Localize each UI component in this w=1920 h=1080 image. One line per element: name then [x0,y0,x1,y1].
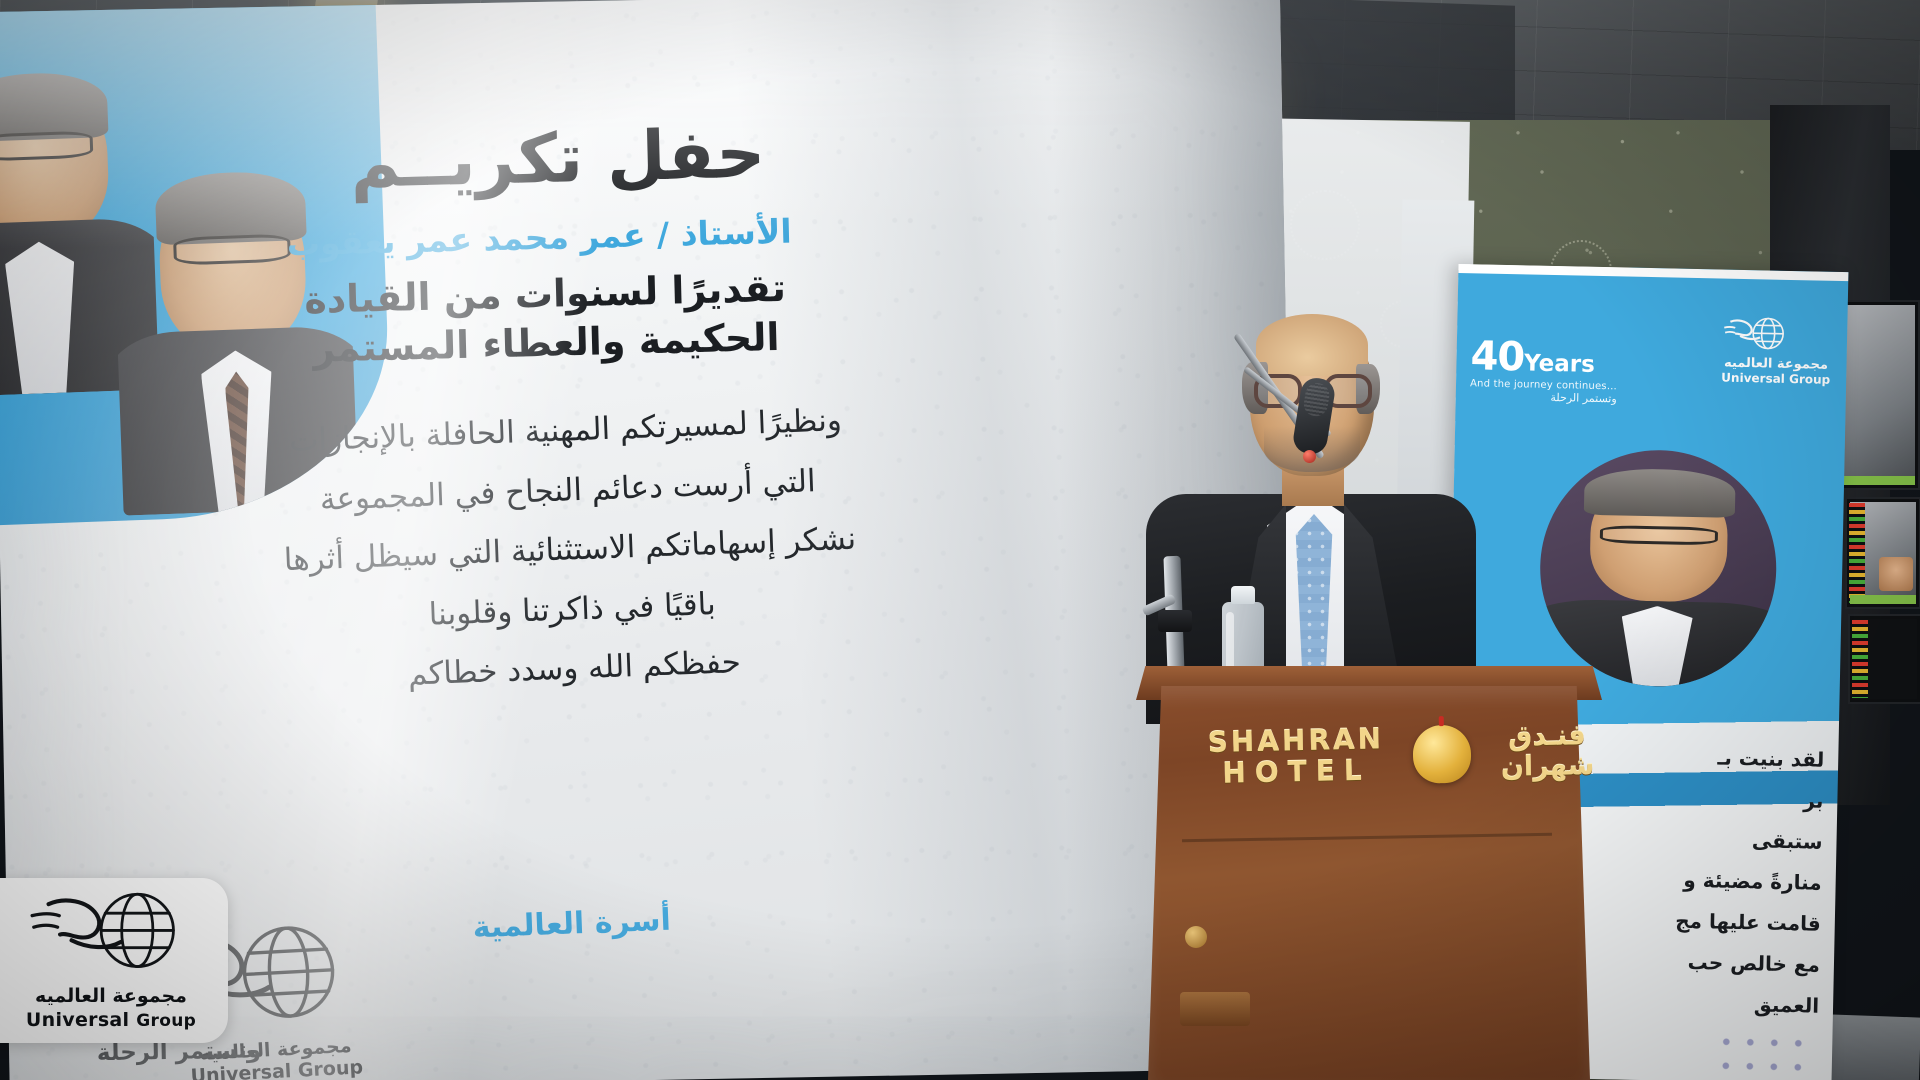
podium-name-ar: فنـدق شهران [1500,721,1595,783]
watermark-name-en-suffix: Group [136,1011,196,1031]
gold-dome-icon [1413,725,1472,784]
monitor-screen [1843,305,1915,485]
podium-badge [1180,992,1250,1026]
monitor-status-bar [1850,595,1916,604]
anniversary-sub-ar: وتستمر الرحلة [1470,389,1617,405]
watermark-name-en: Universal Group [26,1009,196,1031]
banner-lead-text: تقديرًا لسنوات من القيادة الحكيمة والعطا… [195,261,897,377]
banner-body-text: ونظيرًا لمسيرتكم المهنية الحافلة بالإنجا… [175,387,966,714]
monitor-status-bar [1843,476,1915,485]
podium-name-ar-line2: شهران [1500,751,1594,783]
speaker-forehead [1256,314,1368,376]
banner-title: حفل تكريــم [227,111,889,207]
podium-knob [1185,926,1207,948]
podium-groove [1182,833,1552,842]
honoree-photo [1538,448,1779,689]
microphone-indicator [1303,450,1316,463]
rollup-logo-en: Universal Group [1721,371,1830,387]
video-monitor [1838,300,1920,490]
audio-meter [1849,503,1865,603]
rollup-logo: مجموعة العالميه Universal Group [1721,316,1831,387]
watermark-name-ar: مجموعة العالميه [35,985,187,1007]
globe-bird-icon [26,891,196,983]
watermark-name-en-main: Universal [26,1009,129,1031]
audio-meter [1852,620,1868,698]
anniversary-word: Years [1524,350,1595,377]
ceremony-photo: 40Years And the journey continues… وتستم… [0,0,1920,1080]
microphone-clamp [1158,610,1192,632]
anniversary-badge: 40Years And the journey continues… وتستم… [1470,336,1618,405]
watermark-logo-card: مجموعة العالميه Universal Group [0,878,228,1043]
podium-nameplate: SHAHRAN HOTEL فنـدق شهران [1191,696,1611,815]
video-monitor [1848,614,1920,704]
podium-name-en: SHAHRAN HOTEL [1207,725,1385,790]
banner-lead-line: الحكيمة والعطاء المستمر [313,315,780,371]
rollup-heading: أستاذنا الفاضل [1680,701,1821,726]
globe-bird-icon [1722,316,1832,358]
video-monitor [1845,497,1920,609]
banner-lead-line: تقديرًا لسنوات من القيادة [304,266,787,322]
monitor-participant [1879,557,1913,591]
podium-name-ar-line1: فنـدق [1500,721,1594,753]
decorative-dots [1713,1030,1811,1080]
podium-name-en-line2: HOTEL [1208,755,1385,789]
